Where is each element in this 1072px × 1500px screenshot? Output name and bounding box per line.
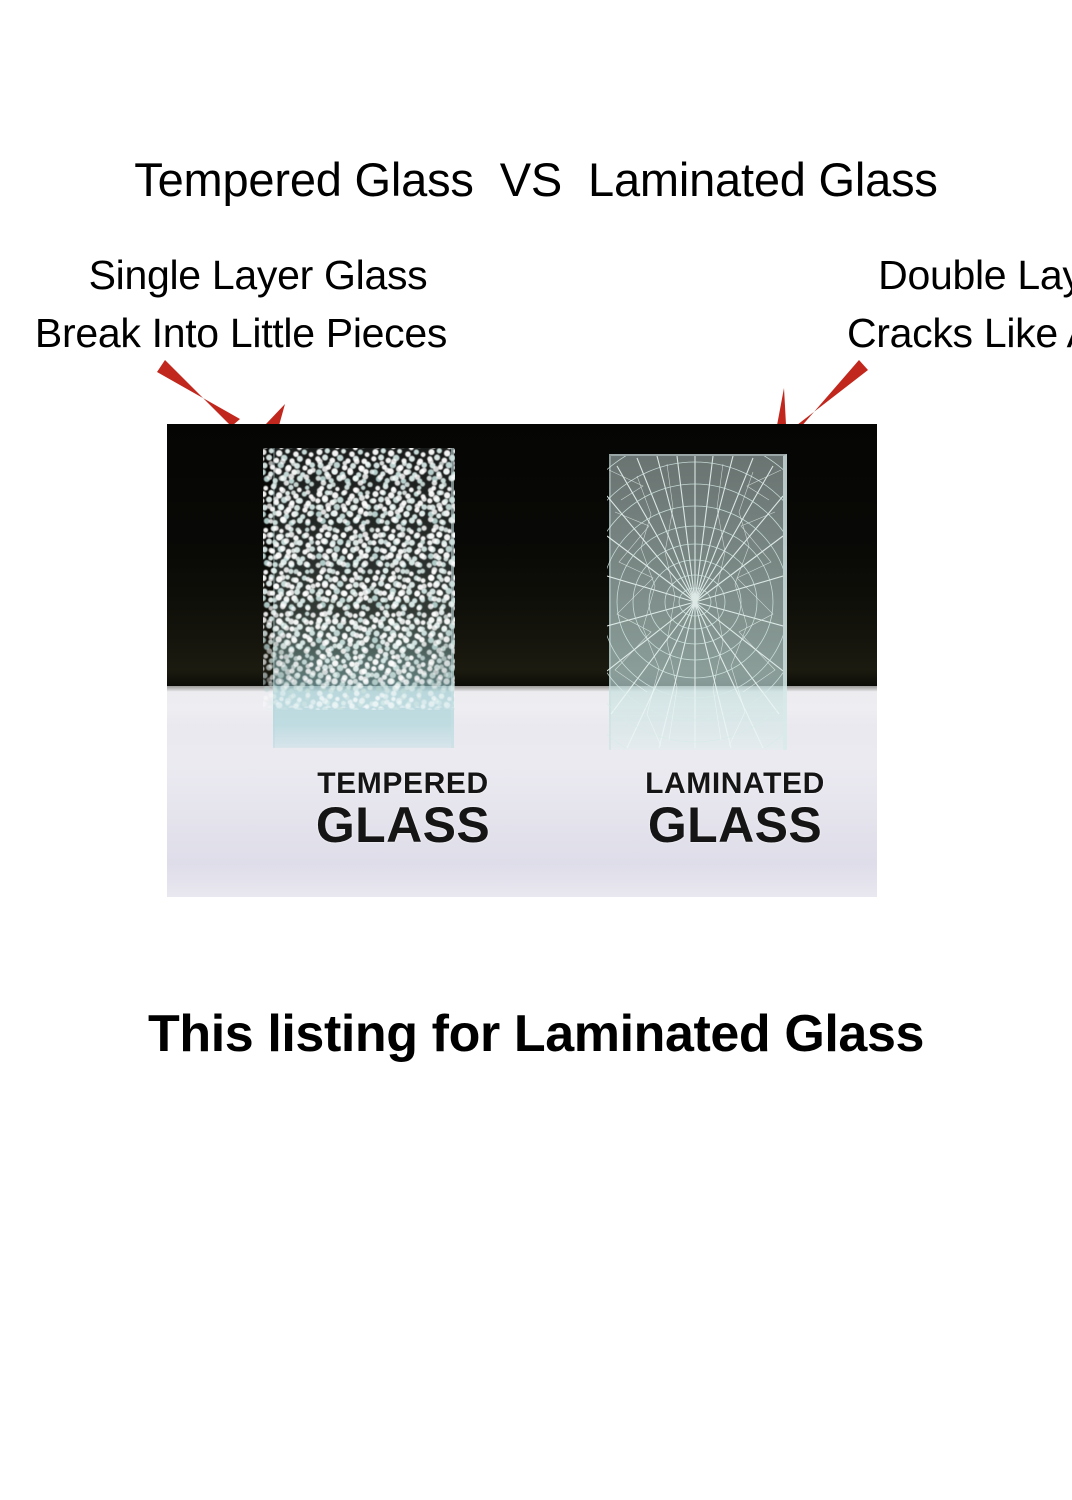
tempered-desc-line1: Single Layer Glass (0, 246, 526, 304)
photo-caption-tempered-small: TEMPERED (233, 768, 573, 800)
tempered-glass-panel (263, 448, 455, 748)
listing-note: This listing for Laminated Glass (0, 1003, 1072, 1065)
photo-caption-laminated-big: GLASS (565, 800, 877, 850)
laminated-spiderweb-crack-texture (607, 456, 783, 748)
photo-caption-laminated: LAMINATED GLASS (565, 768, 877, 850)
laminated-glass-panel (603, 454, 789, 750)
title-tempered-glass: Tempered Glass (134, 152, 473, 208)
column-laminated: Double Laylers Glass Cracks Like A Spide… (536, 246, 1072, 362)
tempered-desc-line2: Break Into Little Pieces (0, 304, 509, 362)
title-vs: VS (500, 152, 562, 208)
glass-comparison-photo: TEMPERED GLASS LAMINATED GLASS (167, 424, 877, 897)
laminated-desc-line1: Double Laylers Glass (802, 246, 1072, 304)
page-title: Tempered GlassVSLaminated Glass (0, 152, 1072, 208)
photo-caption-tempered: TEMPERED GLASS (233, 768, 573, 850)
laminated-desc-line2: Cracks Like A Spider Web (812, 304, 1072, 362)
photo-caption-tempered-big: GLASS (233, 800, 573, 850)
column-tempered: Single Layer Glass Break Into Little Pie… (0, 246, 536, 362)
title-laminated-glass: Laminated Glass (588, 152, 938, 208)
comparison-columns: Single Layer Glass Break Into Little Pie… (0, 246, 1072, 362)
photo-caption-laminated-small: LAMINATED (565, 768, 877, 800)
tempered-shatter-texture-overlay (265, 458, 455, 708)
